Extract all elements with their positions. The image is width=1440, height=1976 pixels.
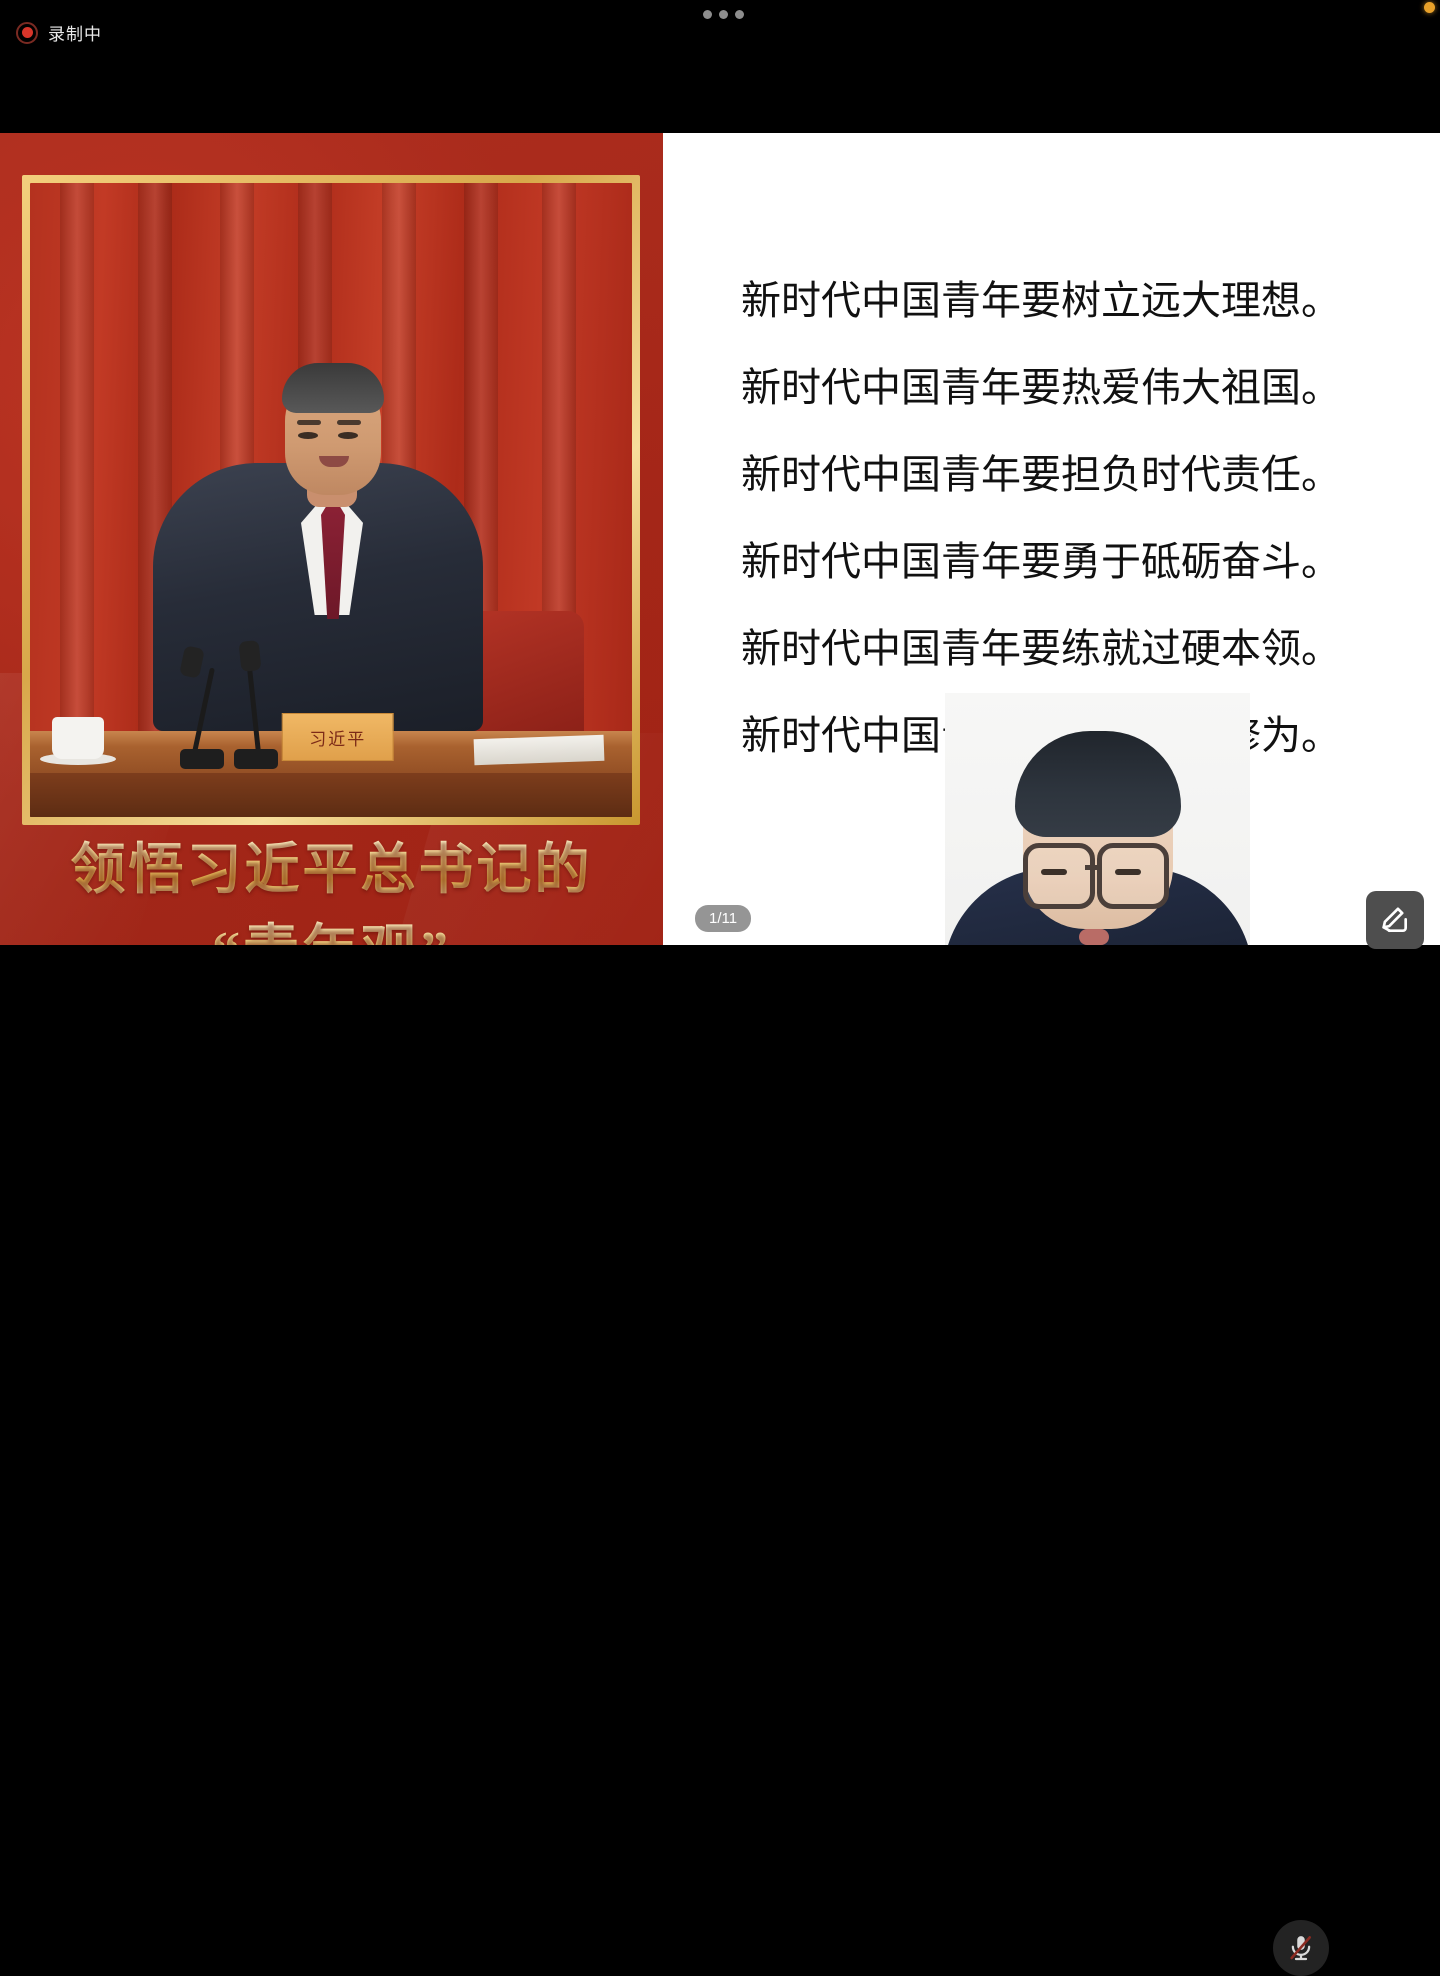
glasses-icon: [1097, 843, 1169, 909]
page-indicator: 1/11: [695, 905, 751, 932]
poster-title: 领悟习近平总书记的 “青年观”: [0, 838, 663, 945]
slide-line: 新时代中国青年要树立远大理想。: [741, 281, 1401, 321]
recording-label: 录制中: [48, 20, 102, 45]
slide-line: 新时代中国青年要勇于砥砺奋斗。: [741, 542, 1401, 582]
poster-title-line-1: 领悟习近平总书记的: [0, 838, 663, 901]
slide-line: 新时代中国青年要担负时代责任。: [741, 455, 1401, 495]
status-dot-icon: [1424, 2, 1435, 13]
recording-indicator: 录制中: [16, 20, 102, 45]
self-video-overlay[interactable]: [945, 693, 1250, 945]
pen-square-icon: [1379, 904, 1411, 936]
top-bar: 录制中: [0, 0, 1440, 133]
photo-frame: 习近平: [22, 175, 640, 825]
papers: [474, 735, 605, 766]
microphone-muted-icon: [1286, 1933, 1316, 1963]
more-dots-icon[interactable]: [703, 10, 744, 19]
slide-line: 新时代中国青年要热爱伟大祖国。: [741, 368, 1401, 408]
annotate-button[interactable]: [1366, 891, 1424, 949]
slide-line: 新时代中国青年要练就过硬本领。: [741, 629, 1401, 669]
nameplate: 习近平: [282, 713, 394, 761]
poster-title-line-2: “青年观”: [0, 919, 663, 945]
record-dot-icon: [16, 22, 38, 44]
bottom-bar: [0, 945, 1440, 1080]
poster-panel: 习近平 领悟习近平总书记的 “青年观”: [0, 133, 663, 945]
microphone-mute-button[interactable]: [1273, 1920, 1329, 1976]
teacup: [52, 717, 104, 759]
speaker-photo: 习近平: [30, 183, 632, 817]
slide-stage[interactable]: 习近平 领悟习近平总书记的 “青年观” 新时代中国青年要树立远大理想。 新时代中…: [0, 133, 1440, 945]
glasses-icon: [1023, 843, 1095, 909]
